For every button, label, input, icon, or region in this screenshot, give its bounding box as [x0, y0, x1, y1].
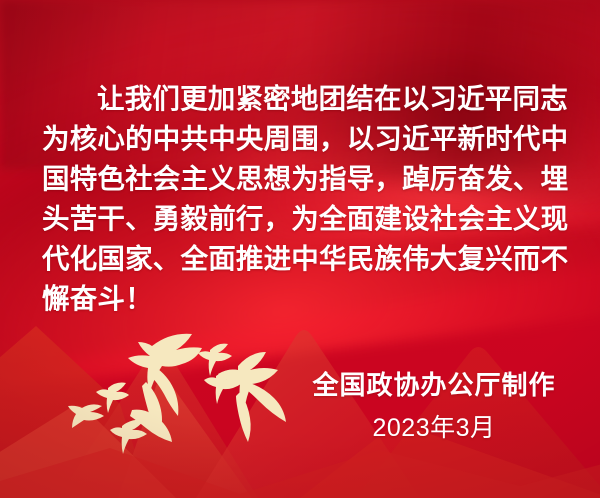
signature-organization: 全国政协办公厅制作	[300, 368, 568, 402]
slogan-line-5: 代化国家、全面推进中华民族伟大复兴而不	[42, 239, 560, 279]
slogan-line-2: 为核心的中共中央周围，以习近平新时代中	[42, 119, 560, 159]
slogan-line-3: 国特色社会主义思想为指导，踔厉奋发、埋	[42, 159, 560, 199]
signature-date: 2023年3月	[300, 412, 568, 444]
slogan-line-6: 懈奋斗！	[42, 279, 560, 319]
dove-small-lower-center-icon	[110, 420, 147, 454]
dove-small-far-left-icon	[68, 404, 104, 428]
poster-canvas: 让我们更加紧密地团结在以习近平同志 为核心的中共中央周围，以习近平新时代中 国特…	[0, 0, 600, 498]
dove-right-spread-icon	[218, 352, 286, 442]
slogan-line-4: 头苦干、勇毅前行，为全面建设社会主义现	[42, 199, 560, 239]
slogan-line-1: 让我们更加紧密地团结在以习近平同志	[42, 79, 560, 119]
signature-block: 全国政协办公厅制作 2023年3月	[300, 368, 568, 444]
slogan-text-block: 让我们更加紧密地团结在以习近平同志 为核心的中共中央周围，以习近平新时代中 国特…	[42, 79, 560, 319]
dove-small-left-icon	[96, 383, 129, 413]
dove-large-center-icon	[128, 334, 202, 442]
